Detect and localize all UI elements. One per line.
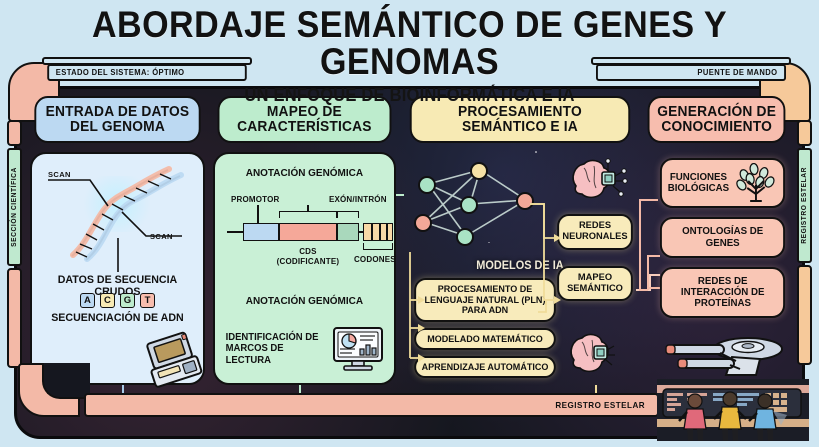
title-block: ABORDAJE SEMÁNTICO DE GENES Y GENOMAS UN… <box>0 6 819 106</box>
side-label-right: REGISTRO ESTELAR <box>797 148 812 263</box>
frame-elbow-bottom-left <box>18 363 80 417</box>
base-item: A <box>80 293 95 308</box>
codon-divider <box>386 223 388 241</box>
model-item-math[interactable]: MODELADO MATEMÁTICO <box>414 328 556 350</box>
column-generacion: GENERACIÓN DE CONOCIMIENTO FUNCIONES BIO… <box>644 96 789 385</box>
dna-sequencer-icon <box>143 331 205 393</box>
gene-codons-box <box>363 223 393 241</box>
frame-segment-right-bottom <box>797 265 812 365</box>
column-body-generacion: FUNCIONES BIOLÓGICAS <box>644 152 789 385</box>
output-mapeo-semantico[interactable]: MAPEO SEMÁNTICO <box>557 266 633 301</box>
codones-brace <box>363 243 393 250</box>
status-badge-bridge[interactable]: PUENTE DE MANDO <box>596 64 786 81</box>
knowledge-item-funciones[interactable]: FUNCIONES BIOLÓGICAS <box>660 158 785 208</box>
cds-brace <box>279 211 337 218</box>
label-codones: CODONES <box>354 255 396 264</box>
gene-structure-diagram: PROMOTOR EXÓN/INTRÓN CDS (CODIFICANTE) C… <box>223 185 386 277</box>
label-cds: CDS (CODIFICANTE) <box>271 247 345 265</box>
output-redes-neuronales[interactable]: REDES NEURONALES <box>557 214 633 249</box>
footer-bar: REGISTRO ESTELAR <box>84 393 659 417</box>
tree-icon <box>735 163 778 203</box>
column-mapeo: MAPEO DE CARACTERÍSTICAS ANOTACIÓN GENÓM… <box>213 96 396 385</box>
column-body-mapeo: ANOTACIÓN GENÓMICA PROMOTOR EXÓN/INTRÓN <box>213 152 396 385</box>
side-label-right-text: REGISTRO ESTELAR <box>801 167 808 244</box>
status-badge-system[interactable]: ESTADO DEL SISTEMA: ÓPTIMO <box>47 64 247 81</box>
annotation-label-bottom: ANOTACIÓN GENÓMICA <box>227 295 382 307</box>
knowledge-item-funciones-label: FUNCIONES BIOLÓGICAS <box>667 172 728 194</box>
dna-leader-down <box>104 238 134 274</box>
label-promotor: PROMOTOR <box>231 195 280 204</box>
footer-label: REGISTRO ESTELAR <box>555 400 645 410</box>
pipeline-columns: ENTRADA DE DATOS DEL GENOMA <box>30 96 789 385</box>
base-item: T <box>140 293 155 308</box>
frame-segment-left-bottom <box>7 268 22 368</box>
base-list: A C G T <box>32 293 203 308</box>
base-item: G <box>120 293 135 308</box>
promotor-leader <box>257 205 259 223</box>
nn-edges <box>408 156 568 264</box>
column-body-procesamiento: MODELOS DE IA PROCESAMIENTO DE LENGUAJE … <box>404 152 636 388</box>
column-body-entrada: SCAN SCAN DATOS DE SECUENCIA CRUDOS A C … <box>30 152 205 385</box>
side-label-left-text: SECCIÓN CIENTÍFICA <box>11 167 18 247</box>
knowledge-item-ontologias[interactable]: ONTOLOGÍAS DE GENES <box>660 217 785 257</box>
brain-chip-icon <box>568 156 628 214</box>
page-subtitle: UN ENFOQUE DE BIOINFORMÁTICA E IA <box>33 85 786 106</box>
monitor-chart-icon <box>330 325 386 373</box>
model-item-nlp[interactable]: PROCESAMIENTO DE LENGUAJE NATURAL (PLN) … <box>414 278 556 321</box>
model-item-ml[interactable]: APRENDIZAJE AUTOMÁTICO <box>414 356 556 378</box>
column-procesamiento: PROCESAMIENTO SEMÁNTICO E IA <box>404 96 636 385</box>
gene-exon-box <box>337 223 359 241</box>
label-exon-intron: EXÓN/INTRÓN <box>329 195 387 204</box>
brain-chip-icon <box>566 330 622 382</box>
gene-promoter-box <box>243 223 279 241</box>
cds-brace-stem <box>307 205 309 212</box>
annotation-label-top: ANOTACIÓN GENÓMICA <box>227 167 382 179</box>
frame-segment-right-top <box>797 120 812 146</box>
label-cds-text: CDS (CODIFICANTE) <box>277 247 340 265</box>
reading-frames-row: IDENTIFICACIÓN DE MARCOS DE LECTURA <box>223 325 386 373</box>
processing-outputs: REDES NEURONALES MAPEO SEMÁNTICO <box>556 214 634 307</box>
caption-sequencing: SECUENCIACIÓN DE ADN <box>36 312 198 324</box>
knowledge-item-redes[interactable]: REDES DE INTERACCIÓN DE PROTEÍNAS <box>660 267 785 319</box>
frame-segment-left-top <box>7 120 22 146</box>
codon-divider <box>379 223 381 241</box>
infographic-root: ABORDAJE SEMÁNTICO DE GENES Y GENOMAS UN… <box>0 0 819 447</box>
gene-cds-box <box>279 223 337 241</box>
side-label-left: SECCIÓN CIENTÍFICA <box>7 148 22 266</box>
column-entrada: ENTRADA DE DATOS DEL GENOMA <box>30 96 205 385</box>
codon-divider <box>371 223 373 241</box>
scan-leader-top <box>46 178 126 218</box>
reading-frames-text: IDENTIFICACIÓN DE MARCOS DE LECTURA <box>226 332 324 367</box>
base-item: C <box>100 293 115 308</box>
bridge-crew-icon <box>657 379 809 441</box>
exon-brace <box>337 211 359 218</box>
